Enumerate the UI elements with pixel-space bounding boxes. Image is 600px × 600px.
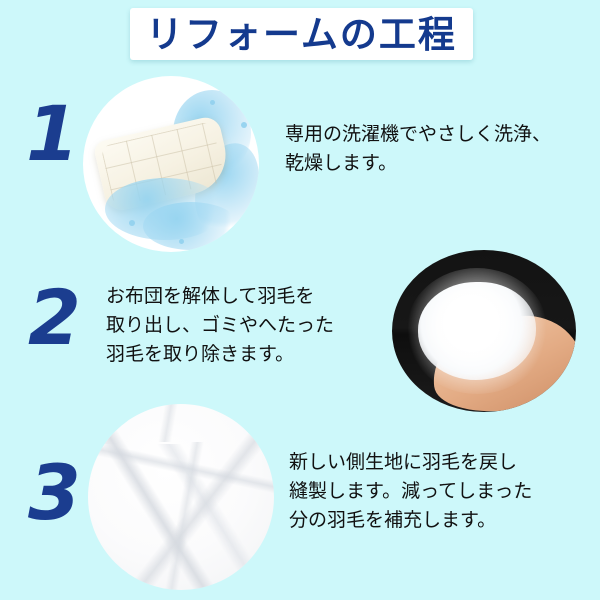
pillow-water-splash-photo xyxy=(83,76,259,252)
quilt-stitching-pattern xyxy=(88,404,274,590)
title-banner: リフォームの工程 xyxy=(130,8,473,60)
page-title: リフォームの工程 xyxy=(146,16,457,53)
step-description-3: 新しい側生地に羽毛を戻し 縫製します。減ってしまった 分の羽毛を補充します。 xyxy=(289,448,589,535)
white-quilted-fabric-photo xyxy=(88,404,274,590)
step-number-2: 2 xyxy=(28,280,81,356)
water-droplet-icon xyxy=(241,122,247,128)
step-number-3: 3 xyxy=(28,455,81,531)
step-description-1: 専用の洗濯機でやさしく洗浄、 乾燥します。 xyxy=(285,120,585,178)
step-description-2: お布団を解体して羽毛を 取り出し、ゴミやへたった 羽毛を取り除きます。 xyxy=(106,282,376,369)
step-number-1: 1 xyxy=(26,96,79,172)
down-feather-cluster-illustration xyxy=(418,282,536,380)
step-row-1: 1 専用の洗濯機でやさしく洗浄、 乾燥します。 xyxy=(0,68,600,268)
hand-holding-down-feathers-photo xyxy=(392,250,576,412)
step-row-3: 3 新しい側生地に羽毛を戻し 縫製します。減ってしまった 分の羽毛を補充します。 xyxy=(0,400,600,585)
step-row-2: 2 お布団を解体して羽毛を 取り出し、ゴミやへたった 羽毛を取り除きます。 xyxy=(0,240,600,415)
water-droplet-icon xyxy=(129,220,135,226)
water-droplet-icon xyxy=(210,100,215,105)
water-droplet-icon xyxy=(226,86,233,93)
reform-process-infographic: リフォームの工程 1 専用の洗濯機でやさしく洗浄、 乾燥します。 2 お布団を解… xyxy=(0,0,600,600)
